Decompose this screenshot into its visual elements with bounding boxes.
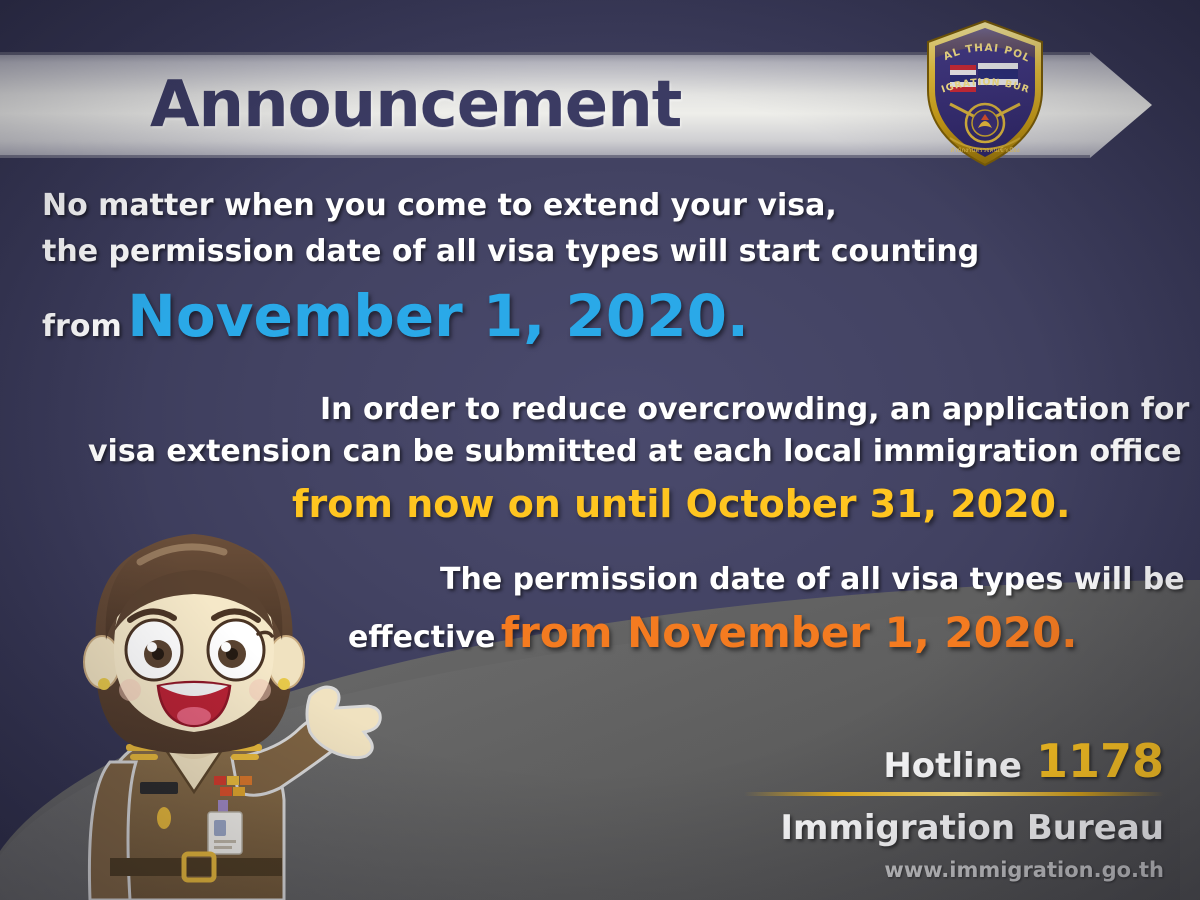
- para2-line2: visa extension can be submitted at each …: [88, 434, 1182, 469]
- announcement-poster: Announcement: [0, 0, 1200, 900]
- organization-name: Immigration Bureau: [744, 808, 1164, 848]
- female-immigration-officer-character: [18, 500, 398, 900]
- para1-line3-prefix: from: [42, 309, 122, 344]
- para3-line2: effective from November 1, 2020.: [348, 608, 1077, 657]
- footer-divider: [744, 792, 1164, 796]
- effective-date-blue: November 1, 2020.: [127, 282, 749, 350]
- footer-contact-block: Hotline1178 Immigration Bureau www.immig…: [744, 738, 1164, 882]
- effective-date-orange: from November 1, 2020.: [501, 608, 1077, 657]
- hotline-label: Hotline: [883, 746, 1022, 786]
- para1-line2: the permission date of all visa types wi…: [42, 234, 979, 269]
- hotline-row: Hotline1178: [744, 738, 1164, 784]
- para1-line1: No matter when you come to extend your v…: [42, 188, 837, 223]
- para3-line1: The permission date of all visa types wi…: [440, 562, 1185, 597]
- para2-line1: In order to reduce overcrowding, an appl…: [320, 392, 1189, 427]
- hotline-number[interactable]: 1178: [1036, 734, 1164, 788]
- website-url[interactable]: www.immigration.go.th: [744, 858, 1164, 882]
- deadline-date-yellow: from now on until October 31, 2020.: [292, 482, 1070, 526]
- para1-line3: from November 1, 2020.: [42, 282, 749, 350]
